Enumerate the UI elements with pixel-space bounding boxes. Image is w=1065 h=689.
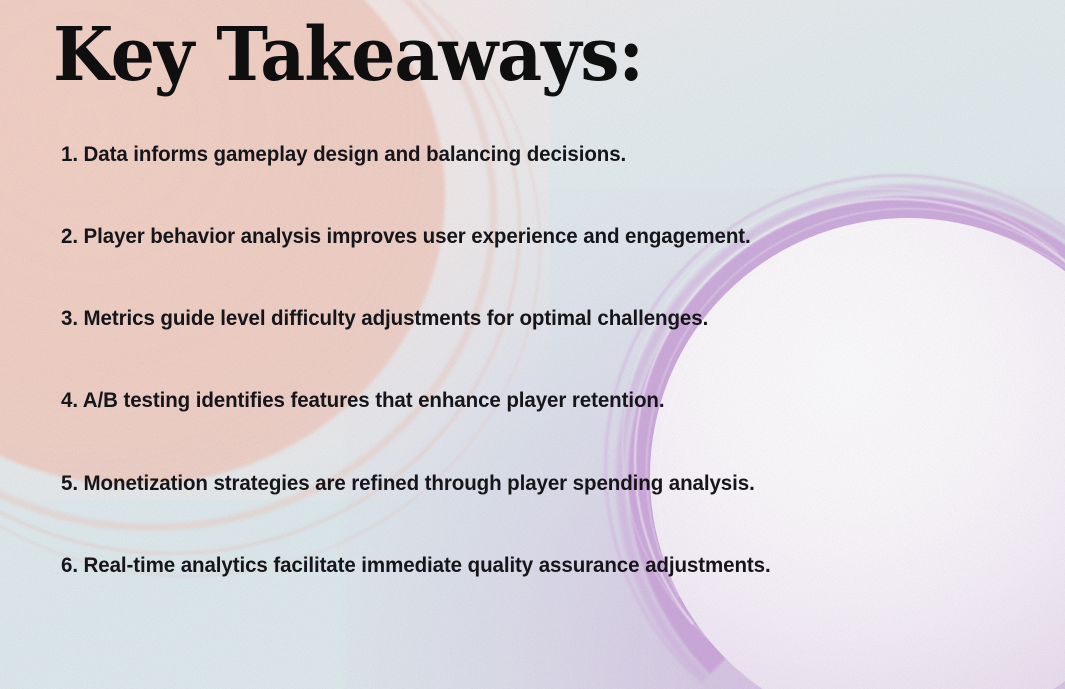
- slide-content: Key Takeaways: 1. Data informs gameplay …: [0, 0, 1065, 689]
- list-item: 3. Metrics guide level difficulty adjust…: [61, 307, 978, 331]
- list-item: 2. Player behavior analysis improves use…: [61, 225, 978, 249]
- slide-canvas: Key Takeaways: 1. Data informs gameplay …: [0, 0, 1065, 689]
- list-item: 5. Monetization strategies are refined t…: [61, 472, 978, 496]
- list-item: 1. Data informs gameplay design and bala…: [61, 143, 978, 167]
- takeaways-list: 1. Data informs gameplay design and bala…: [61, 143, 1021, 577]
- list-item: 6. Real-time analytics facilitate immedi…: [61, 554, 978, 578]
- page-title: Key Takeaways:: [53, 17, 643, 95]
- list-item: 4. A/B testing identifies features that …: [61, 389, 978, 413]
